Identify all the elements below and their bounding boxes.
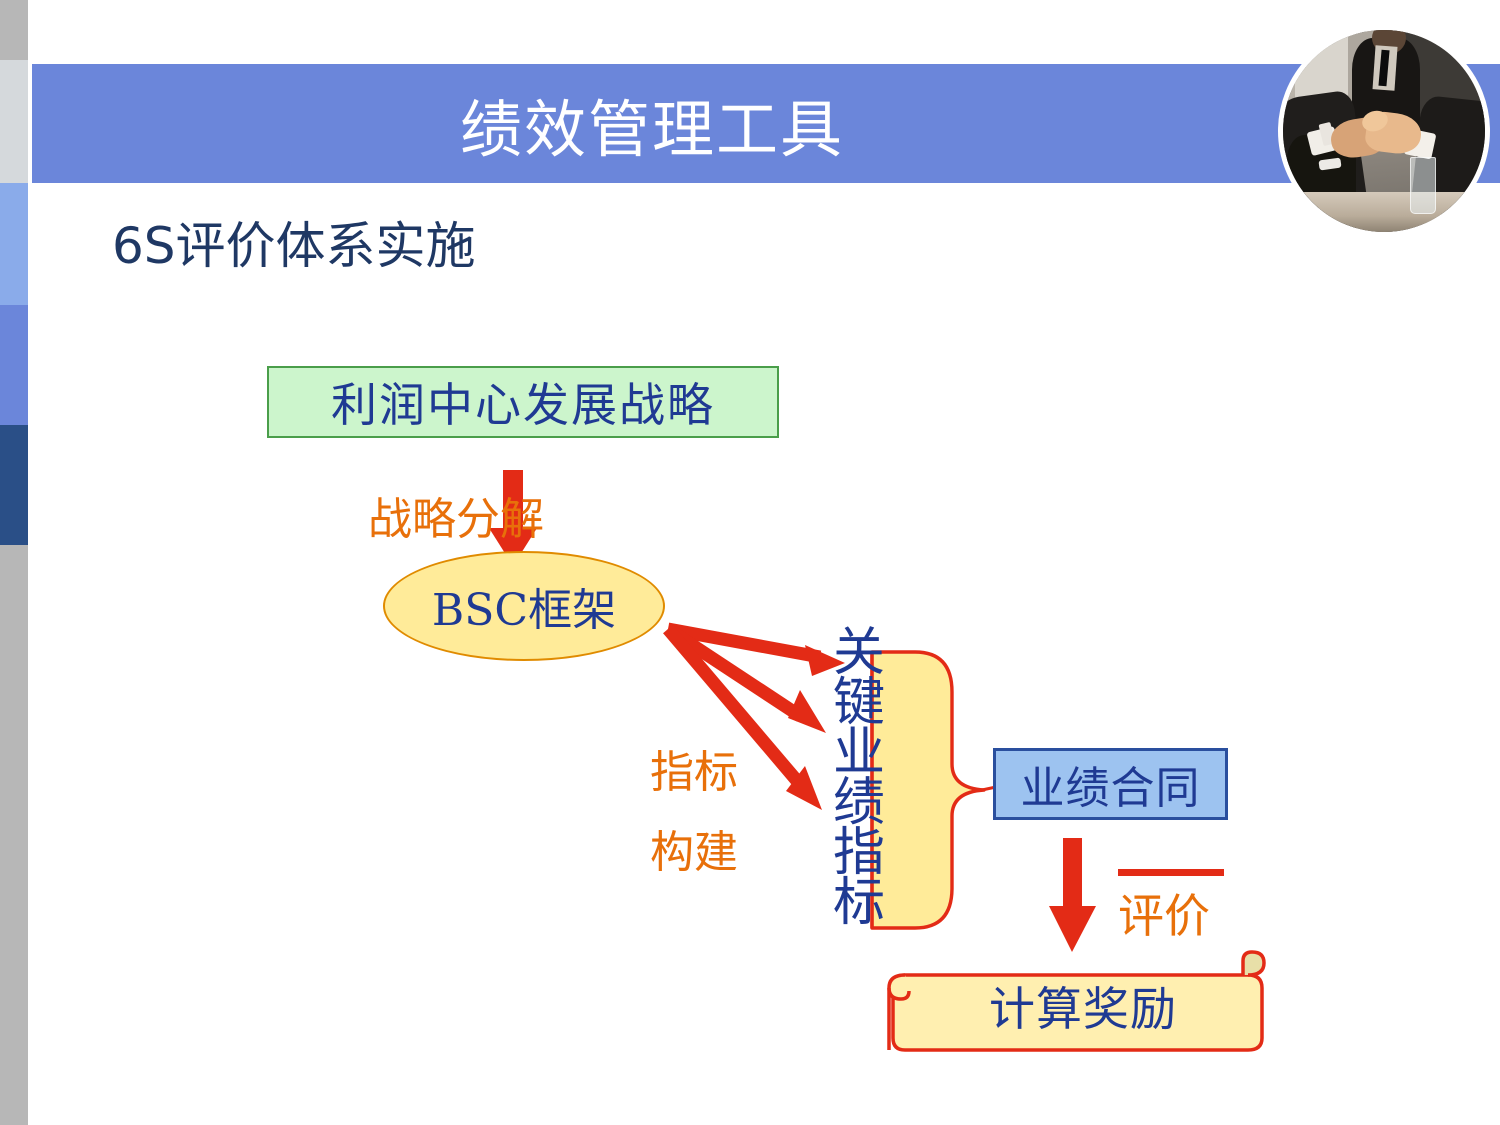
kpi-build-label-line1: 指标 [650, 736, 738, 800]
page-title: 绩效管理工具 [32, 64, 1272, 183]
sidebar-band-mid-blue [0, 305, 28, 425]
evaluate-underline-rule [1118, 869, 1224, 876]
kpi-char-2: 键 [833, 678, 889, 728]
kpi-char-5: 指 [833, 828, 889, 878]
performance-contract-box[interactable]: 业绩合同 [993, 748, 1228, 820]
bsc-framework-node[interactable]: BSC框架 [383, 551, 665, 661]
photo-table [1283, 192, 1485, 232]
arrow-bsc-to-kpi-1 [668, 629, 845, 676]
kpi-char-3: 业 [833, 728, 889, 778]
evaluate-label: 评价 [1118, 880, 1210, 946]
arrow-contract-to-reward [1049, 838, 1096, 952]
kpi-char-1: 关 [833, 628, 889, 678]
sidebar-band-light-gray [0, 60, 28, 183]
sidebar-band-gray-bottom [0, 545, 28, 1125]
kpi-char-6: 标 [833, 878, 889, 928]
photo-glass [1410, 157, 1436, 214]
sidebar-band-dark-blue [0, 425, 28, 545]
decorative-sidebar [0, 0, 28, 1125]
kpi-vertical-label: 关 键 业 绩 指 标 [833, 628, 889, 928]
slide-canvas: 绩效管理工具 6S评价体系实施 [0, 0, 1500, 1125]
slide-subtitle: 6S评价体系实施 [112, 206, 476, 278]
arrow-bsc-to-kpi-2 [668, 629, 826, 733]
handshake-photo-content [1283, 30, 1485, 232]
kpi-build-label-line2: 构建 [650, 816, 738, 880]
sidebar-band-gray-top [0, 0, 28, 60]
sidebar-band-light-blue [0, 183, 28, 305]
kpi-char-4: 绩 [833, 778, 889, 828]
reward-scroll-label: 计算奖励 [898, 963, 1268, 1049]
handshake-photo [1278, 25, 1490, 237]
strategy-decompose-label: 战略分解 [368, 483, 544, 547]
reward-scroll-shape [889, 952, 1264, 1050]
strategy-box[interactable]: 利润中心发展战略 [267, 366, 779, 438]
